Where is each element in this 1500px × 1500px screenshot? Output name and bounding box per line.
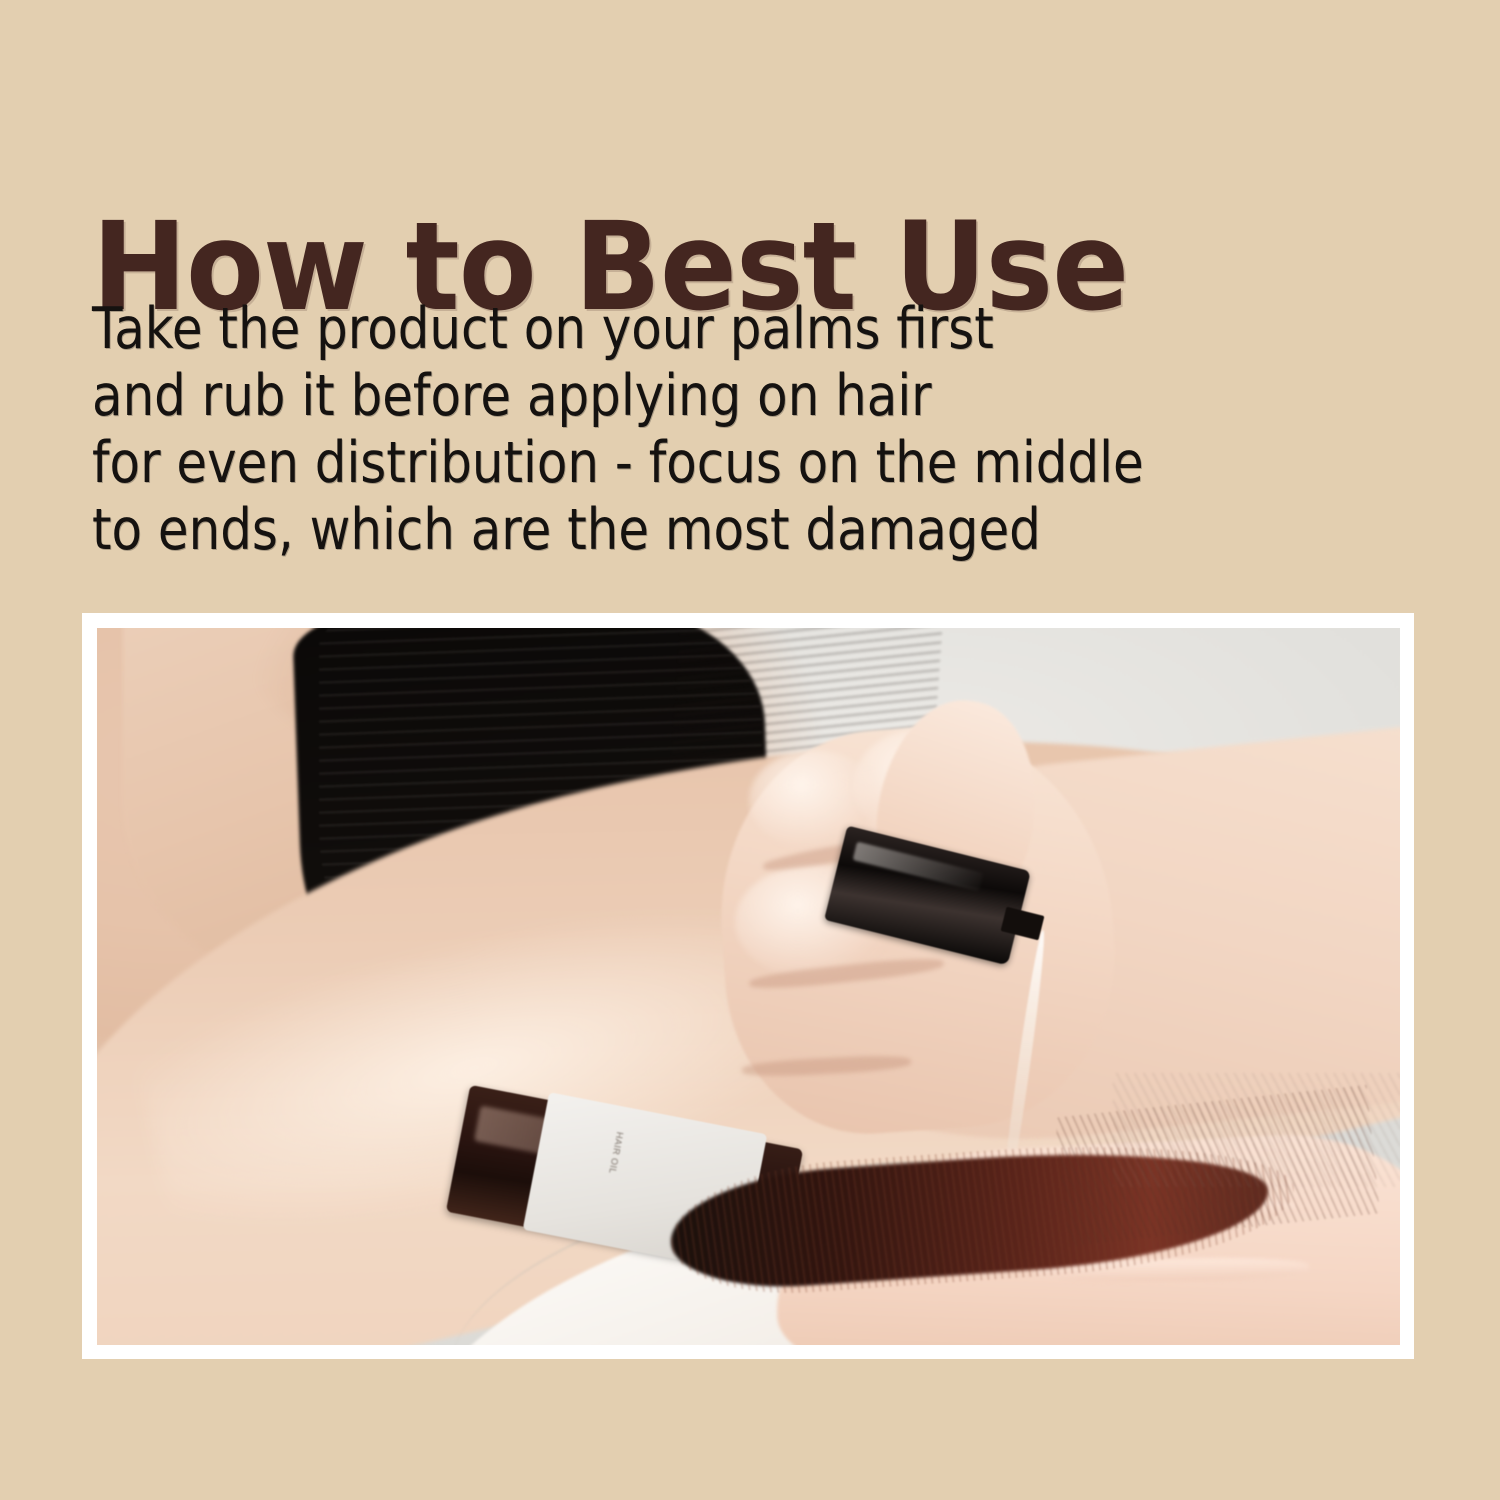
- damaged-hair-ends: [1113, 1073, 1400, 1188]
- photo-frame: HAIR OIL: [82, 613, 1414, 1359]
- instruction-line-2: and rub it before applying on hair: [92, 363, 1265, 430]
- how-to-best-use-panel: How to Best Use Take the product on your…: [0, 0, 1500, 1500]
- instruction-paragraph: Take the product on your palms first and…: [92, 296, 1432, 564]
- instruction-line-1: Take the product on your palms first: [92, 296, 1265, 363]
- instruction-line-3: for even distribution - focus on the mid…: [92, 430, 1265, 497]
- product-usage-photo: HAIR OIL: [97, 628, 1400, 1345]
- instruction-line-4: to ends, which are the most damaged: [92, 497, 1265, 564]
